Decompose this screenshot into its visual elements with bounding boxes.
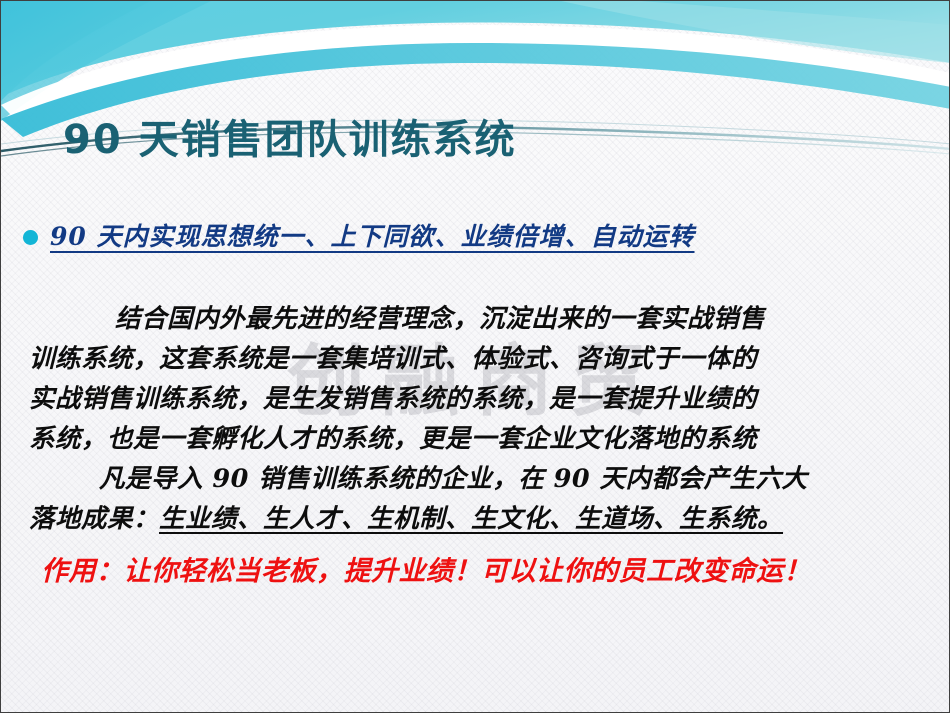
body-line: 实战销售训练系统，是生发销售系统的系统，是一套提升业绩的 — [29, 379, 929, 419]
subtitle-bullet-row: 90 天内实现思想统一、上下同欲、业绩倍增、自动运转 — [23, 217, 695, 253]
emphasis-callout-text: 作用：让你轻松当老板，提升业绩！可以让你的员工改变命运！ — [41, 549, 811, 588]
body-line: 结合国内外最先进的经营理念，沉淀出来的一套实战销售 — [29, 299, 929, 339]
results-prefix: 落地成果： — [29, 504, 159, 534]
bullet-dot-icon — [23, 230, 38, 245]
page-title: 90 天销售团队训练系统 — [63, 107, 517, 165]
slide-content: 90 天销售团队训练系统 90 天内实现思想统一、上下同欲、业绩倍增、自动运转 … — [1, 1, 949, 712]
presentation-slide: 创融商贸 90 天销售团队训练系统 90 天内实现思想统一、上下同欲、业绩倍增、… — [0, 0, 950, 713]
body-line: 系统，也是一套孵化人才的系统，更是一套企业文化落地的系统 — [29, 419, 929, 459]
subtitle-text: 90 天内实现思想统一、上下同欲、业绩倍增、自动运转 — [50, 217, 695, 253]
body-line-results: 落地成果：生业绩、生人才、生机制、生文化、生道场、生系统。 — [29, 499, 929, 539]
body-line: 训练系统，这套系统是一套集培训式、体验式、咨询式于一体的 — [29, 339, 929, 379]
body-text-block: 结合国内外最先进的经营理念，沉淀出来的一套实战销售 训练系统，这套系统是一套集培… — [29, 299, 929, 539]
body-line: 凡是导入 90 销售训练系统的企业，在 90 天内都会产生六大 — [29, 459, 929, 499]
results-list: 生业绩、生人才、生机制、生文化、生道场、生系统。 — [159, 504, 783, 534]
